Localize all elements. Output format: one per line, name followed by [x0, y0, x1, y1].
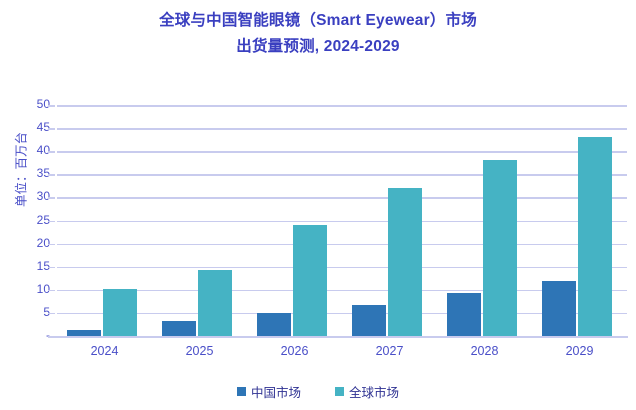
legend-swatch-icon	[335, 387, 344, 396]
y-axis-tick-mark	[48, 128, 55, 130]
bar-series-layer	[57, 105, 627, 336]
y-axis-tick-label: 5	[6, 305, 50, 319]
legend-label: 全球市场	[349, 382, 399, 401]
x-axis-ticks: 202420252026202720282029	[57, 344, 627, 364]
y-axis-tick-mark	[48, 105, 55, 107]
bar-global-2029[interactable]	[578, 137, 612, 336]
bar-group	[532, 105, 627, 336]
bar-global-2026[interactable]	[293, 225, 327, 336]
y-axis-ticks: 5045403530252015105-	[0, 105, 50, 336]
x-axis-tick-label-2024: 2024	[57, 344, 152, 358]
legend-item-global[interactable]: 全球市场	[335, 382, 399, 401]
y-axis-tick-mark	[48, 290, 55, 292]
y-axis-tick-label: 10	[6, 282, 50, 296]
x-axis-tick-label-2026: 2026	[247, 344, 342, 358]
y-axis-tick-label: 40	[6, 143, 50, 157]
y-axis-tick-label: 15	[6, 259, 50, 273]
y-axis-tick-mark	[48, 244, 55, 246]
chart-legend: 中国市场全球市场	[0, 382, 636, 401]
bar-global-2027[interactable]	[388, 188, 422, 336]
bar-china-2028[interactable]	[447, 293, 481, 336]
x-axis-tick-label-2027: 2027	[342, 344, 437, 358]
bar-group	[247, 105, 342, 336]
x-axis-baseline	[48, 336, 628, 338]
y-axis-tick-label: 20	[6, 236, 50, 250]
bar-global-2028[interactable]	[483, 160, 517, 336]
y-axis-tick-mark	[48, 197, 55, 199]
y-axis-tick-mark	[48, 174, 55, 176]
bar-group	[57, 105, 152, 336]
bar-china-2025[interactable]	[162, 321, 196, 336]
y-axis-tick-label: -	[6, 328, 50, 342]
legend-item-china[interactable]: 中国市场	[237, 382, 301, 401]
bar-china-2029[interactable]	[542, 281, 576, 336]
x-axis-tick-label-2025: 2025	[152, 344, 247, 358]
bar-group	[152, 105, 247, 336]
y-axis-tick-label: 25	[6, 213, 50, 227]
y-axis-tick-mark	[48, 267, 55, 269]
plot-area: 5045403530252015105- 2024202520262027202…	[0, 0, 636, 410]
y-axis-tick-mark	[48, 313, 55, 315]
bar-group	[437, 105, 532, 336]
y-axis-tick-mark	[48, 151, 55, 153]
bar-china-2027[interactable]	[352, 305, 386, 336]
bar-global-2025[interactable]	[198, 270, 232, 336]
legend-label: 中国市场	[251, 382, 301, 401]
bar-china-2026[interactable]	[257, 313, 291, 336]
bar-global-2024[interactable]	[103, 289, 137, 336]
y-axis-tick-label: 30	[6, 189, 50, 203]
y-axis-tick-label: 50	[6, 97, 50, 111]
chart-container: 全球与中国智能眼镜（Smart Eyewear）市场 出货量预测, 2024-2…	[0, 0, 636, 410]
x-axis-tick-label-2028: 2028	[437, 344, 532, 358]
bar-group	[342, 105, 437, 336]
x-axis-tick-label-2029: 2029	[532, 344, 627, 358]
legend-swatch-icon	[237, 387, 246, 396]
y-axis-tick-label: 35	[6, 166, 50, 180]
y-axis-tick-label: 45	[6, 120, 50, 134]
y-axis-tick-mark	[48, 221, 55, 223]
